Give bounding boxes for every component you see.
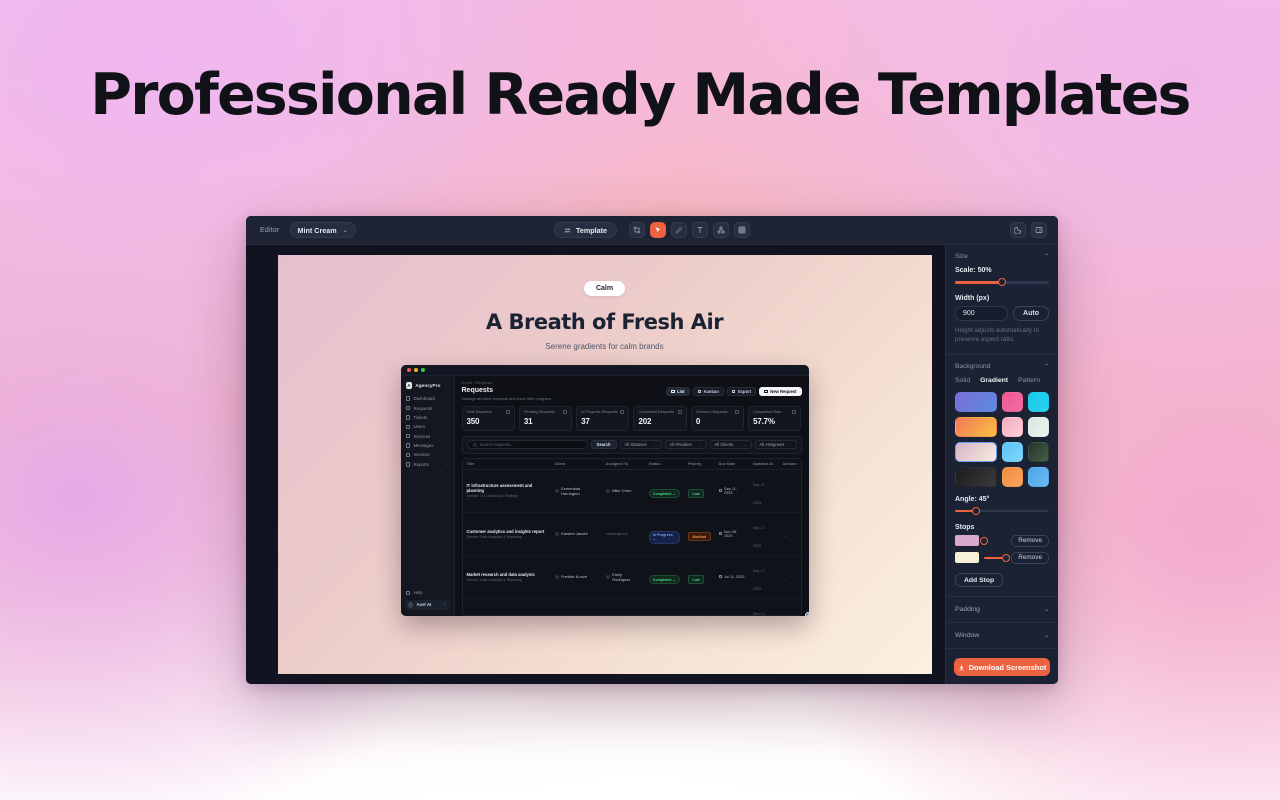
template-button[interactable]: Template — [554, 222, 617, 238]
toolbar-center-group: Template — [246, 222, 1058, 238]
cell-due-date: Jul 11, 2025 — [715, 555, 749, 598]
stat-value: 31 — [524, 417, 567, 426]
cell-actions[interactable]: ⋯ — [779, 555, 801, 598]
cell-actions[interactable]: ⋯ — [779, 598, 801, 616]
mock-brand: A AgencyPro ⋮ — [401, 380, 454, 394]
width-label: Width (px) — [955, 295, 1049, 302]
requests-icon — [406, 406, 411, 411]
users-icon — [406, 425, 411, 430]
sidebar-item-requests[interactable]: Requests — [401, 403, 454, 412]
help-icon — [406, 591, 411, 596]
theme-select[interactable]: Mint Cream ⌄ — [290, 222, 356, 238]
chevron-right-icon: › — [447, 424, 448, 429]
cell-title: IT infrastructure assessment and plannin… — [463, 469, 551, 512]
filter-label: All Clients — [715, 442, 734, 447]
new-request-icon — [764, 390, 768, 394]
cell-updated-at: Sep 11, 2025 — [749, 469, 779, 512]
table-header-row: TitleClientAssigned ToStatusPriorityDue … — [463, 459, 801, 470]
sidebar-item-services[interactable]: Services› — [401, 432, 454, 441]
maximize-icon — [421, 368, 425, 372]
stat-icon — [563, 410, 567, 414]
gradient-swatch-forest-dark[interactable] — [1028, 442, 1049, 462]
stat-value: 202 — [638, 417, 681, 426]
width-input[interactable]: 900 — [955, 306, 1008, 321]
cell-client: Ottilie Hammes — [551, 598, 602, 616]
settings-panel: Size ⌃ Scale: 50% Width (px) 900 Auto He — [945, 245, 1058, 684]
avatar — [408, 602, 414, 608]
size-section-title: Size — [955, 253, 968, 260]
cell-due-date: Dec 13, 2025 — [715, 598, 749, 616]
gradient-swatch-cyan-sky[interactable] — [1028, 392, 1049, 412]
cell-updated-at: Sep 17, 2025 — [749, 512, 779, 555]
stat-icon — [678, 410, 682, 414]
panel-toggle-icon[interactable] — [1031, 222, 1047, 238]
minimize-icon — [414, 368, 418, 372]
scale-slider[interactable] — [955, 278, 1049, 286]
cell-due-date: Nov 08, 2025 — [715, 512, 749, 555]
status-badge[interactable]: Completed ⌄ — [649, 575, 680, 583]
reports-icon — [406, 462, 411, 467]
chevron-up-icon: ⌃ — [1044, 363, 1049, 370]
chevron-down-icon: ⌄ — [1044, 632, 1049, 639]
gradient-swatch-charcoal[interactable] — [955, 467, 997, 487]
export-icon — [732, 390, 736, 394]
mock-page-subtitle: Manage all client requests and track the… — [462, 396, 552, 401]
angle-label: Angle: 45° — [955, 496, 1049, 503]
calendar-icon — [719, 489, 722, 493]
section-title: Padding — [955, 606, 980, 613]
sidebar-item-users[interactable]: Users› — [401, 422, 454, 431]
cell-title: Customer analytics and insights reportSe… — [463, 512, 551, 555]
size-hint: Height adjusts automatically to preserve… — [955, 327, 1049, 345]
pen-slash-icon[interactable] — [671, 222, 687, 238]
invoices-icon — [406, 453, 411, 458]
stops-label: Stops — [955, 524, 1049, 531]
cell-client: Esmeralda Harrington — [551, 469, 602, 512]
services-icon — [406, 434, 411, 439]
sidebar-item-label: Services — [414, 434, 431, 439]
sliders-icon — [564, 227, 571, 234]
editor-label: Editor — [260, 227, 280, 234]
remove-stop-button[interactable]: Remove — [1011, 535, 1049, 547]
background-tab-gradient[interactable]: Gradient — [980, 377, 1008, 384]
filter-label: All Assignees — [760, 442, 785, 447]
sidebar-item-label: Dashboard — [414, 396, 435, 401]
brand-logo-icon: A — [406, 382, 413, 389]
cell-assignee: Mike Chen — [602, 469, 645, 512]
table-row[interactable]: Customer analytics and insights reportSe… — [463, 512, 801, 555]
avatar — [555, 575, 559, 579]
breadcrumb: Home / Requests — [462, 380, 802, 385]
cell-updated-at: Sep 17, 2025 — [749, 598, 779, 616]
table-row[interactable]: Market research and data analysisService… — [463, 555, 801, 598]
cell-assignee: Unassigned — [602, 598, 645, 616]
gradient-swatch-sky-blue[interactable] — [1002, 442, 1023, 462]
requests-table: TitleClientAssigned ToStatusPriorityDue … — [463, 459, 801, 617]
toolbar-right-group — [1010, 222, 1049, 238]
remove-stop-button[interactable]: Remove — [1011, 552, 1049, 564]
gradient-swatch-pink-magenta[interactable] — [1002, 392, 1023, 412]
cell-client: Freddie Kunze — [551, 555, 602, 598]
mock-page-header: Home / Requests Requests Manage all clie… — [455, 376, 809, 404]
sidebar-item-label: Help — [414, 590, 423, 595]
gradient-swatch-sunset-orange[interactable] — [1002, 467, 1023, 487]
sidebar-item-messages[interactable]: Messages — [401, 441, 454, 450]
column-header[interactable]: Priority — [684, 459, 715, 470]
stop-position-slider[interactable] — [984, 554, 1006, 562]
canvas-preview[interactable]: Calm A Breath of Fresh Air Serene gradie… — [278, 255, 932, 674]
background-tabs: SolidGradientPattern — [955, 377, 1049, 384]
sidebar-item-label: Users — [414, 424, 425, 429]
shapes-icon[interactable] — [713, 222, 729, 238]
status-badge[interactable]: Completed ⌄ — [649, 489, 680, 497]
stat-card: In Progress Requests37 — [576, 406, 629, 431]
settings-panel-scroll[interactable]: Size ⌃ Scale: 50% Width (px) 900 Auto He — [946, 245, 1058, 684]
ai-assistant-entry[interactable]: Axel AI ⌃ — [405, 600, 450, 611]
column-header[interactable]: Client — [551, 459, 602, 470]
stat-label: Completed Requests — [638, 410, 673, 414]
list-icon — [671, 390, 675, 394]
mock-body: A AgencyPro ⋮ DashboardRequestsTicketsUs… — [401, 376, 809, 616]
text-icon[interactable] — [692, 222, 708, 238]
gradient-swatch-violet-blue[interactable] — [955, 392, 997, 412]
dark-mode-icon[interactable] — [1010, 222, 1026, 238]
new-request-button[interactable]: New Request — [759, 387, 801, 396]
column-header[interactable]: Title — [463, 459, 551, 470]
row-actions-icon[interactable]: ⋯ — [783, 577, 788, 583]
brand-name: AgencyPro — [415, 383, 440, 388]
search-placeholder: Search requests... — [480, 442, 514, 447]
stat-card: Completion Rate57.7% — [748, 406, 801, 431]
gradient-swatch-blush-pink[interactable] — [1002, 417, 1023, 437]
cell-priority: Low — [684, 469, 715, 512]
stop-slider-knob[interactable] — [1002, 554, 1010, 562]
sidebar-item-reports[interactable]: Reports› — [401, 460, 454, 469]
priority-badge: Medium — [688, 532, 711, 540]
mock-nav-bottom: Help Axel AI ⌃ — [401, 588, 454, 612]
stat-label: Pending Requests — [524, 410, 555, 414]
stop-color-swatch[interactable] — [955, 535, 979, 546]
status-badge[interactable]: In Progress ⌄ — [649, 531, 680, 543]
add-stop-button[interactable]: Add Stop — [955, 573, 1003, 587]
column-header[interactable]: Due Date — [715, 459, 749, 470]
size-section-header[interactable]: Size ⌃ — [955, 253, 1049, 260]
priority-badge: Low — [688, 489, 704, 497]
kanban-icon — [698, 390, 702, 394]
avatar — [606, 489, 610, 493]
cell-actions[interactable]: ⋯ — [779, 469, 801, 512]
stat-value: 37 — [581, 417, 624, 426]
dashboard-icon — [406, 396, 411, 401]
table-row[interactable]: Website copy writing and optimisationSer… — [463, 598, 801, 616]
chevron-right-icon: › — [447, 462, 448, 467]
stat-value: 0 — [696, 417, 739, 426]
mock-nav: DashboardRequestsTicketsUsers›Services›M… — [401, 394, 454, 469]
cell-title: Website copy writing and optimisationSer… — [463, 598, 551, 616]
calendar-icon — [719, 532, 722, 536]
row-actions-icon[interactable]: ⋯ — [783, 491, 788, 497]
column-header[interactable]: Assigned To — [602, 459, 645, 470]
cell-status: Completed ⌄ — [645, 469, 684, 512]
chevron-right-icon: › — [447, 434, 448, 439]
button-label: Export — [738, 389, 751, 394]
button-label: New Request — [770, 389, 796, 394]
background-section-header[interactable]: Background ⌃ — [955, 363, 1049, 370]
cell-assignee: Unassigned — [602, 512, 645, 555]
ai-assistant-label: Axel AI — [417, 602, 432, 607]
sidebar-item-label: Requests — [414, 406, 433, 411]
button-label: List — [677, 389, 684, 394]
gradient-swatch-mint-cream[interactable] — [1028, 417, 1049, 437]
embedded-app-screenshot[interactable]: A AgencyPro ⋮ DashboardRequestsTicketsUs… — [401, 365, 809, 616]
stat-label: In Progress Requests — [581, 410, 618, 414]
sidebar-item-dashboard[interactable]: Dashboard — [401, 394, 454, 403]
stat-label: Completion Rate — [753, 410, 781, 414]
avatar — [555, 532, 559, 536]
search-icon — [473, 443, 477, 447]
background-tab-solid[interactable]: Solid — [955, 377, 970, 384]
stat-icon — [735, 410, 739, 414]
stat-icon — [620, 410, 624, 414]
canvas-chip: Calm — [584, 281, 625, 296]
scale-label: Scale: 50% — [955, 267, 1049, 274]
cell-priority: Low — [684, 598, 715, 616]
column-header[interactable]: Status — [645, 459, 684, 470]
cell-priority: Low — [684, 555, 715, 598]
filter-all-assignees[interactable]: All Assignees⌄ — [755, 440, 797, 449]
mock-page-title: Requests — [462, 387, 552, 394]
gradient-stop-row: Remove — [955, 552, 1049, 564]
angle-slider-knob[interactable] — [972, 507, 980, 515]
crop-icon[interactable] — [629, 222, 645, 238]
filter-label: All Statuses — [625, 442, 647, 447]
calendar-icon — [719, 575, 723, 579]
table-body: IT infrastructure assessment and plannin… — [463, 469, 801, 616]
size-section: Size ⌃ Scale: 50% Width (px) 900 Auto He — [946, 245, 1058, 355]
stop-position-slider[interactable] — [984, 537, 1006, 545]
padding-section-header[interactable]: Padding⌄ — [946, 597, 1058, 623]
gradient-swatch-rose-cream[interactable] — [955, 442, 997, 462]
row-actions-icon[interactable]: ⋯ — [783, 534, 788, 540]
mock-filter-selects: All Statuses⌄All Priorities⌄All Clients⌄… — [620, 440, 797, 449]
chevron-down-icon: ⌄ — [1044, 606, 1049, 613]
cell-title: Market research and data analysisService… — [463, 555, 551, 598]
stat-label: Total Requests — [467, 410, 492, 414]
search-button[interactable]: Search — [591, 440, 617, 449]
chevron-down-icon: ⌄ — [343, 227, 348, 234]
sidebar-item-help[interactable]: Help — [401, 588, 454, 597]
download-screenshot-label: Download Screenshot — [969, 663, 1047, 672]
cell-assignee: Emily Rodriguez — [602, 555, 645, 598]
stop-color-swatch[interactable] — [955, 552, 979, 563]
auto-button[interactable]: Auto — [1013, 306, 1049, 321]
mock-main: Home / Requests Requests Manage all clie… — [455, 376, 809, 616]
cell-actions[interactable]: ⋯ — [779, 512, 801, 555]
filter-all-priorities[interactable]: All Priorities⌄ — [665, 440, 707, 449]
sidebar-menu-icon[interactable]: ⋮ — [444, 383, 449, 389]
cell-status: Completed ⌄ — [645, 555, 684, 598]
stat-label: Overdue Requests — [696, 410, 728, 414]
template-button-label: Template — [576, 226, 607, 235]
window-section-header[interactable]: Window⌄ — [946, 623, 1058, 649]
sidebar-item-label: Reports — [414, 462, 429, 467]
stat-card: Overdue Requests0 — [691, 406, 744, 431]
button-label: Kanban — [704, 389, 719, 394]
close-icon — [407, 368, 411, 372]
filter-all-clients[interactable]: All Clients⌄ — [710, 440, 752, 449]
cell-client: Karsten Jacobi — [551, 512, 602, 555]
grid-icon[interactable] — [734, 222, 750, 238]
gradient-swatch-orange-amber[interactable] — [955, 417, 997, 437]
stat-icon — [506, 410, 510, 414]
cell-due-date: Sep 11, 2025 — [715, 469, 749, 512]
page-title: Professional Ready Made Templates — [0, 62, 1280, 128]
stat-card: Total Requests350 — [462, 406, 515, 431]
stat-card: Completed Requests202 — [633, 406, 686, 431]
cell-priority: Medium — [684, 512, 715, 555]
canvas-title: A Breath of Fresh Air — [486, 310, 723, 334]
background-section-title: Background — [955, 363, 990, 370]
section-title: Window — [955, 632, 979, 639]
resize-handle[interactable] — [805, 612, 809, 616]
column-header[interactable]: Updated At — [749, 459, 779, 470]
cursor-icon[interactable] — [650, 222, 666, 238]
gradient-stops-list: RemoveRemove — [955, 535, 1049, 564]
canvas-area[interactable]: Calm A Breath of Fresh Air Serene gradie… — [246, 245, 945, 684]
angle-slider[interactable] — [955, 507, 1049, 515]
chevron-down-icon: ⌄ — [743, 443, 746, 447]
export-button[interactable]: Export — [727, 387, 756, 396]
cell-updated-at: Sep 17, 2025 — [749, 555, 779, 598]
search-input[interactable]: Search requests... — [467, 440, 588, 449]
mock-filter-bar: Search requests... Search All Statuses⌄A… — [462, 436, 802, 454]
chevron-up-icon: ⌃ — [1044, 253, 1049, 260]
sidebar-item-label: Tickets — [414, 415, 428, 420]
column-header[interactable]: Actions — [779, 459, 801, 470]
background-section: Background ⌃ SolidGradientPattern Angle:… — [946, 355, 1058, 598]
sidebar-item-invoices[interactable]: Invoices — [401, 450, 454, 459]
chevron-down-icon: ⌄ — [788, 443, 791, 447]
sidebar-item-tickets[interactable]: Tickets — [401, 413, 454, 422]
gradient-swatch-grid — [955, 392, 1049, 487]
gradient-swatch-azure[interactable] — [1028, 467, 1049, 487]
tickets-icon — [406, 415, 411, 420]
canvas-subtitle: Serene gradients for calm brands — [545, 342, 663, 351]
editor-toolbar: Editor Mint Cream ⌄ Template — [246, 216, 1058, 245]
mock-stats-row: Total Requests350Pending Requests31In Pr… — [455, 404, 809, 431]
avatar — [606, 575, 610, 579]
kanban-button[interactable]: Kanban — [693, 387, 724, 396]
requests-table-wrapper[interactable]: TitleClientAssigned ToStatusPriorityDue … — [462, 458, 802, 617]
scale-slider-knob[interactable] — [998, 278, 1006, 286]
sidebar-item-label: Invoices — [414, 452, 430, 457]
chevron-down-icon: ⌄ — [653, 443, 656, 447]
stat-value: 350 — [467, 417, 510, 426]
gradient-stop-row: Remove — [955, 535, 1049, 547]
mock-sidebar: A AgencyPro ⋮ DashboardRequestsTicketsUs… — [401, 376, 455, 616]
filter-label: All Priorities — [670, 442, 692, 447]
stat-value: 57.7% — [753, 417, 796, 426]
stop-slider-knob[interactable] — [980, 537, 988, 545]
mock-header-actions: ListKanbanExportNew Request — [666, 387, 801, 396]
chevron-updown-icon: ⌃ — [443, 602, 446, 607]
filter-all-statuses[interactable]: All Statuses⌄ — [620, 440, 662, 449]
messages-icon — [406, 443, 411, 448]
editor-body: Calm A Breath of Fresh Air Serene gradie… — [246, 245, 1058, 684]
cell-status: In Progress ⌄ — [645, 512, 684, 555]
avatar — [555, 489, 559, 493]
stat-card: Pending Requests31 — [519, 406, 572, 431]
download-screenshot-button[interactable]: Download Screenshot — [954, 658, 1050, 676]
mock-titlebar — [401, 365, 809, 376]
theme-select-label: Mint Cream — [298, 226, 337, 235]
scale-slider-fill — [955, 281, 1002, 284]
table-row[interactable]: IT infrastructure assessment and plannin… — [463, 469, 801, 512]
background-tab-pattern[interactable]: Pattern — [1018, 377, 1040, 384]
download-icon — [958, 664, 965, 671]
cell-status: In Progress ⌄ — [645, 598, 684, 616]
priority-badge: Low — [688, 575, 704, 583]
chevron-down-icon: ⌄ — [698, 443, 701, 447]
download-bar: Download Screenshot — [946, 650, 1058, 684]
sidebar-item-label: Messages — [414, 443, 434, 448]
editor-window: Editor Mint Cream ⌄ Template — [246, 216, 1058, 684]
list-button[interactable]: List — [666, 387, 689, 396]
stat-icon — [792, 410, 796, 414]
